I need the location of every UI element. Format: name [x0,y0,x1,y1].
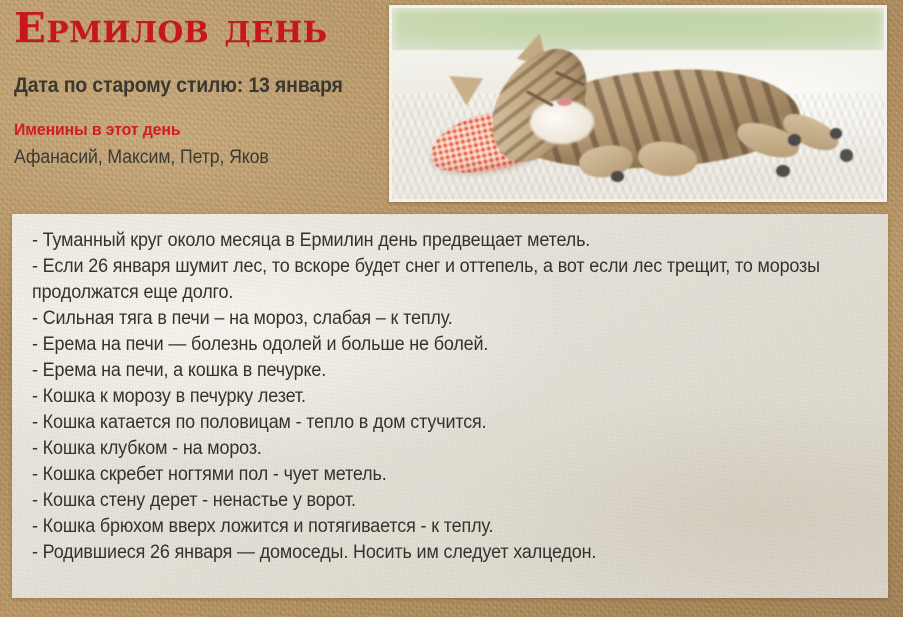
list-item: - Туманный круг около месяца в Ермилин д… [32,228,824,254]
list-item: - Сильная тяга в печи – на мороз, слабая… [32,306,824,332]
list-item: - Если 26 января шумит лес, то вскоре бу… [32,254,824,306]
nameday-heading: Именины в этот день [14,120,360,140]
photo-kitten-toebean-1 [611,171,624,182]
omens-panel: - Туманный круг около месяца в Ермилин д… [12,214,888,598]
photo-kitten-muzzle [530,100,594,144]
header-text-block: Ермилов день Дата по старому стилю: 13 я… [14,6,386,168]
folk-calendar-card: Ермилов день Дата по старому стилю: 13 я… [0,0,903,617]
old-style-date: Дата по старому стилю: 13 января [14,74,360,98]
photo-kitten-toebean-4 [840,149,854,161]
nameday-names: Афанасий, Максим, Петр, Яков [14,147,360,169]
omens-list: - Туманный круг около месяца в Ермилин д… [32,228,870,566]
photo-kitten-toebean-3 [788,134,801,145]
list-item: - Кошка катается по половицам - тепло в … [32,410,824,436]
photo-kitten-toebean-2 [776,165,790,177]
list-item: - Ерема на печи — болезнь одолей и больш… [32,332,824,358]
list-item: - Ерема на печи, а кошка в печурке. [32,358,824,384]
list-item: - Кошка скребет ногтями пол - чует метел… [32,462,824,488]
kitten-photo-frame [389,5,887,202]
kitten-photo [392,8,884,199]
list-item: - Кошка к морозу в печурку лезет. [32,384,824,410]
photo-kitten-toebean-5 [830,128,842,139]
list-item: - Кошка стену дерет - ненастье у ворот. [32,488,824,514]
page-title: Ермилов день [14,6,393,52]
list-item: - Родившиеся 26 января — домоседы. Носит… [32,540,824,566]
list-item: - Кошка клубком - на мороз. [32,436,824,462]
list-item: - Кошка брюхом вверх ложится и потягивае… [32,514,824,540]
